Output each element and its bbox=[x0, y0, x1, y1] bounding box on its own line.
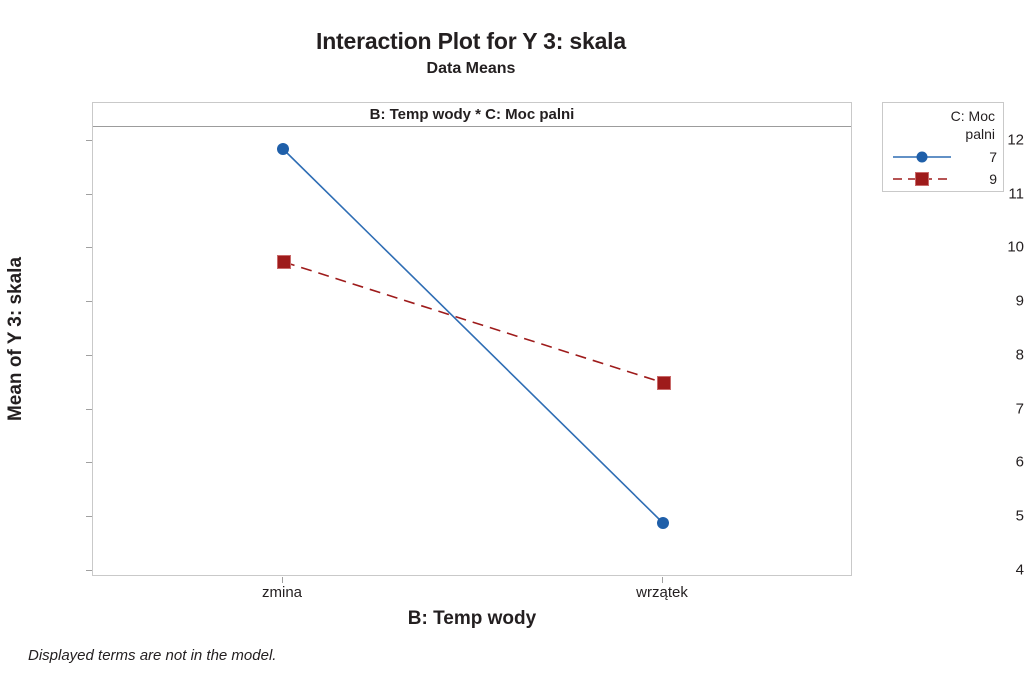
series-9 bbox=[278, 256, 671, 390]
page-subtitle: Data Means bbox=[0, 60, 942, 78]
data-point-marker bbox=[278, 256, 291, 269]
data-point-marker bbox=[657, 517, 669, 529]
data-point-marker bbox=[658, 377, 671, 390]
legend-title: C: Moc palni bbox=[889, 107, 995, 143]
legend: C: Moc palni 7 9 bbox=[882, 102, 1004, 192]
page-title: Interaction Plot for Y 3: skala bbox=[0, 28, 942, 55]
y-tick-label: 8 bbox=[984, 347, 1024, 364]
legend-item-7[interactable]: 7 bbox=[883, 147, 1005, 167]
plot-series-canvas bbox=[93, 103, 853, 577]
x-axis-title: B: Temp wody bbox=[92, 608, 852, 630]
x-tick-label: zmina bbox=[262, 584, 302, 601]
x-tick-mark bbox=[282, 577, 283, 583]
chart-page: Interaction Plot for Y 3: skala Data Mea… bbox=[0, 0, 1024, 683]
data-point-marker bbox=[277, 143, 289, 155]
x-tick-mark bbox=[662, 577, 663, 583]
y-tick-label: 7 bbox=[984, 401, 1024, 418]
legend-label: 7 bbox=[989, 147, 997, 167]
footnote: Displayed terms are not in the model. bbox=[28, 647, 276, 664]
y-tick-label: 9 bbox=[984, 293, 1024, 310]
legend-swatch-square-icon bbox=[891, 169, 953, 189]
legend-title-line-2: palni bbox=[889, 125, 995, 143]
legend-item-9[interactable]: 9 bbox=[883, 169, 1005, 189]
y-tick-label: 4 bbox=[984, 562, 1024, 579]
x-tick-label: wrzątek bbox=[636, 584, 688, 601]
y-tick-label: 5 bbox=[984, 508, 1024, 525]
legend-swatch-circle-icon bbox=[891, 147, 953, 167]
y-tick-label: 10 bbox=[984, 239, 1024, 256]
y-tick-label: 6 bbox=[984, 454, 1024, 471]
legend-label: 9 bbox=[989, 169, 997, 189]
legend-title-line-1: C: Moc bbox=[889, 107, 995, 125]
plot-area: B: Temp wody * C: Moc palni bbox=[92, 102, 852, 576]
series-7 bbox=[277, 143, 669, 529]
y-axis-title: Mean of Y 3: skala bbox=[5, 257, 27, 421]
